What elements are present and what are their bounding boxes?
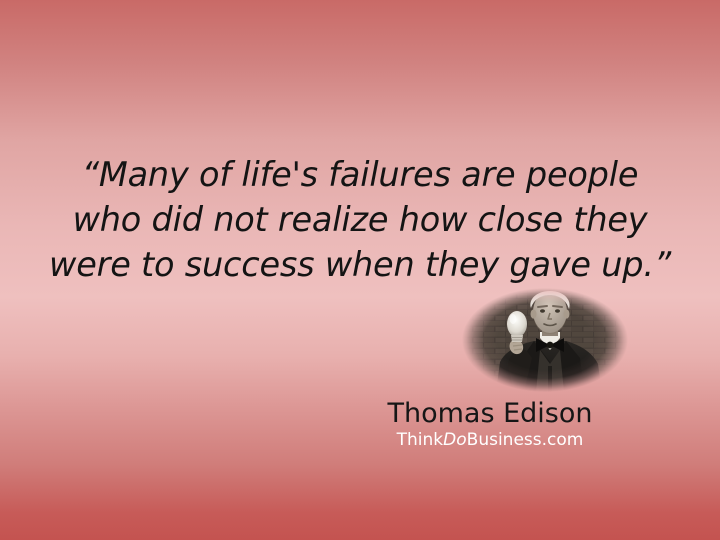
quote-line-3: were to success when they gave up.”: [40, 242, 680, 287]
author-name: Thomas Edison: [340, 398, 640, 429]
quote-slide: “Many of life's failures are people who …: [0, 0, 720, 540]
brand-wordmark: ThinkDoBusiness.com: [340, 430, 640, 451]
brand-part-business: Business.com: [467, 430, 584, 450]
quote-block: “Many of life's failures are people who …: [40, 152, 680, 287]
attribution-block: Thomas Edison ThinkDoBusiness.com: [340, 398, 640, 451]
quote-line-2: who did not realize how close they: [40, 197, 680, 242]
brand-part-do: Do: [443, 430, 467, 450]
brand-part-think: Think: [397, 430, 444, 450]
quote-line-1: “Many of life's failures are people: [40, 152, 680, 197]
edison-portrait-image: [462, 288, 628, 392]
